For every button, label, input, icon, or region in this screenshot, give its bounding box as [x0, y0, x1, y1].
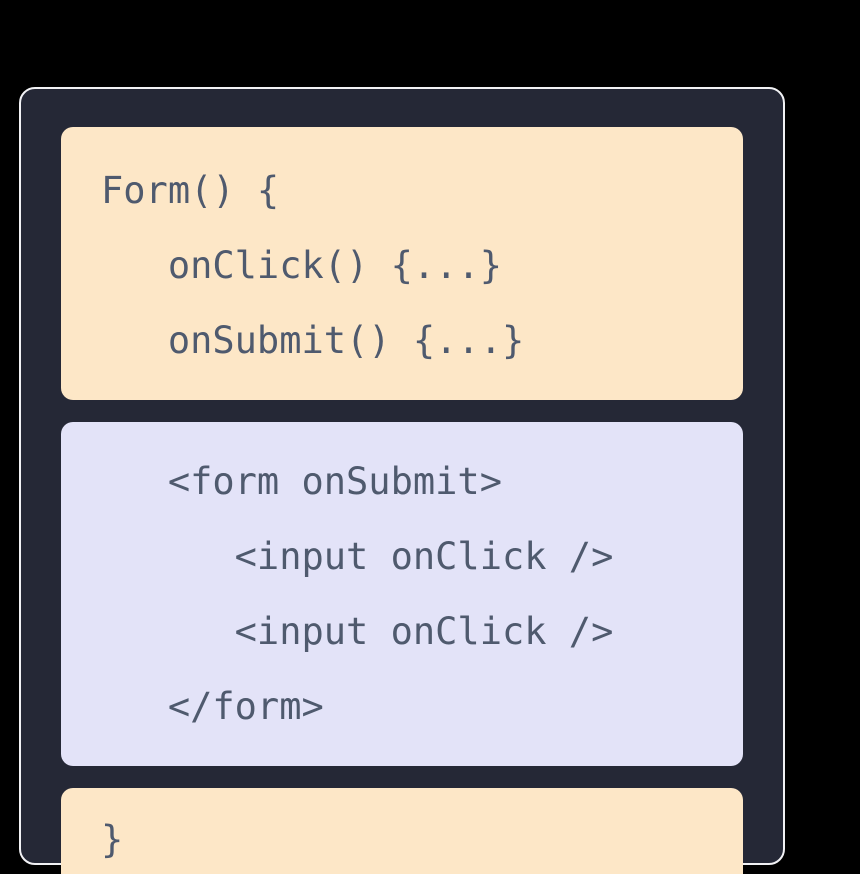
component-code-card: Form() { onClick() {...} onSubmit() {...…	[19, 87, 785, 865]
code-block-markup-body: <form onSubmit> <input onClick /> <input…	[61, 422, 743, 766]
code-block-javascript-tail: }	[61, 788, 743, 874]
code-line: onClick() {...}	[101, 228, 703, 303]
code-line: Form() {	[101, 153, 703, 228]
code-line: }	[101, 802, 703, 874]
page-root: Form() { onClick() {...} onSubmit() {...…	[0, 0, 860, 874]
code-line: </form>	[101, 669, 703, 744]
code-line: <input onClick />	[101, 519, 703, 594]
code-line: <input onClick />	[101, 594, 703, 669]
code-line: onSubmit() {...}	[101, 303, 703, 378]
code-block-javascript-head: Form() { onClick() {...} onSubmit() {...…	[61, 127, 743, 400]
code-line: <form onSubmit>	[101, 444, 703, 519]
